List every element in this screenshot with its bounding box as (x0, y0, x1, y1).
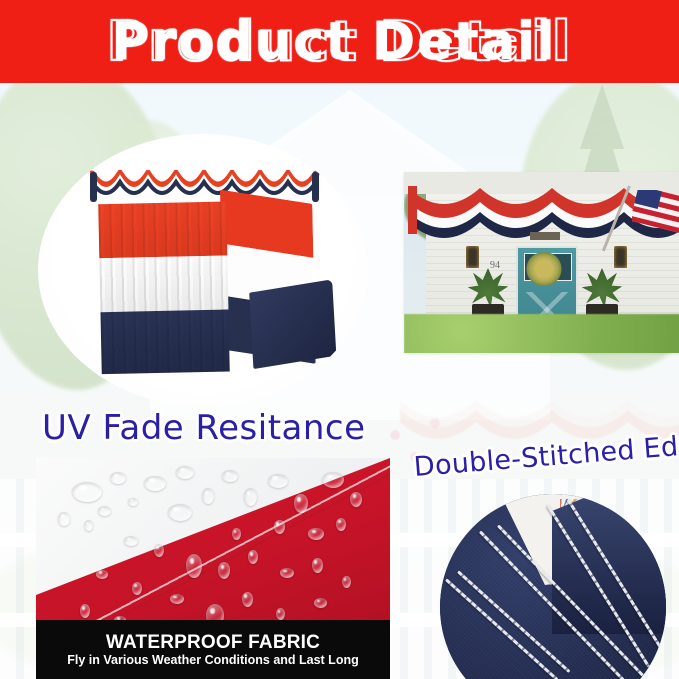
page-title: Product Detail (101, 15, 579, 69)
porch-hedge (404, 314, 679, 353)
waterproof-caption-subtitle: Fly in Various Weather Conditions and La… (67, 654, 358, 667)
porch-door-wreath (526, 252, 562, 286)
uv-fade-resistance-label: UV Fade Resitance (42, 408, 366, 448)
american-flag (632, 190, 679, 258)
product-detail-image: Product Detail (0, 0, 679, 679)
waterproof-caption-title: WATERPROOF FABRIC (106, 633, 320, 652)
bunting-pleat-texture (98, 202, 230, 375)
double-stitched-edge-photo (440, 494, 666, 679)
porch-installation-photo: 94 (404, 172, 679, 353)
waterproof-fabric-photo: WATERPROOF FABRIC Fly in Various Weather… (36, 458, 390, 679)
waterproof-caption-band: WATERPROOF FABRIC Fly in Various Weather… (36, 620, 390, 679)
porch-lamp-left (466, 246, 479, 268)
porch-lamp-right (614, 246, 627, 268)
bunting-fold-graphic (98, 200, 312, 376)
header-banner: Product Detail (0, 0, 679, 83)
porch-house-number: 94 (490, 260, 500, 271)
product-shot-oval (38, 134, 368, 406)
bunting-folded-corner (249, 279, 336, 369)
